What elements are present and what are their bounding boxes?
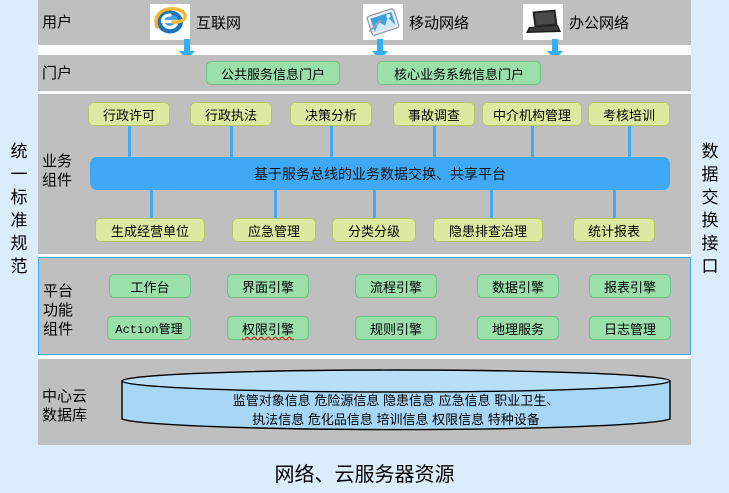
side-right-char-1: 据 bbox=[691, 163, 729, 186]
database-content-text: 监管对象信息 危险源信息 隐患信息 应急信息 职业卫生、 执法信息 危化品信息 … bbox=[120, 391, 672, 429]
user-layer-band: 用户 互联网 bbox=[38, 0, 691, 45]
side-left-char-2: 标 bbox=[0, 186, 38, 209]
business-node-accident-investigation[interactable]: 事故调查 bbox=[393, 102, 475, 126]
platform-node-ui-engine[interactable]: 界面引擎 bbox=[227, 274, 309, 298]
connector-top-6 bbox=[628, 126, 631, 158]
business-node-hazard-investigation-label: 隐患排查治理 bbox=[449, 221, 527, 240]
platform-node-report-engine[interactable]: 报表引擎 bbox=[589, 274, 671, 298]
bottom-caption: 网络、云服务器资源 bbox=[0, 458, 729, 487]
user-endpoint-mobile[interactable]: 移动网络 bbox=[363, 4, 469, 40]
business-layer-band: 业务 组件 行政许可 行政执法 决策分析 事故调查 中介机构管理 考核培训 bbox=[38, 94, 691, 254]
side-left-char-0: 统 bbox=[0, 140, 38, 163]
row-label-business-line1: 业务 bbox=[42, 152, 96, 171]
side-left-char-5: 范 bbox=[0, 255, 38, 278]
row-label-database: 中心云 数据库 bbox=[42, 387, 96, 425]
connector-top-1 bbox=[128, 126, 131, 158]
connector-bottom-1 bbox=[150, 190, 153, 220]
row-label-user: 用户 bbox=[42, 13, 96, 32]
database-layer-band: 中心云 数据库 监管对象信息 危险源信息 隐患信息 应急信息 职业卫生、 执法信… bbox=[38, 359, 691, 445]
business-node-classification-grading[interactable]: 分类分级 bbox=[332, 218, 416, 242]
service-bus-label: 基于服务总线的业务数据交换、共享平台 bbox=[254, 164, 506, 184]
platform-node-data-engine-label: 数据引擎 bbox=[492, 277, 544, 296]
business-node-admin-enforcement-label: 行政执法 bbox=[205, 105, 257, 124]
connector-top-5 bbox=[531, 126, 534, 158]
service-bus-bar[interactable]: 基于服务总线的业务数据交换、共享平台 bbox=[90, 157, 670, 190]
diagram-canvas: 统 一 标 准 规 范 数 据 交 换 接 口 用户 bbox=[0, 0, 729, 493]
business-node-admin-license[interactable]: 行政许可 bbox=[88, 102, 170, 126]
side-label-left: 统 一 标 准 规 范 bbox=[0, 140, 38, 278]
user-endpoint-office[interactable]: 办公网络 bbox=[523, 4, 629, 40]
portal-node-core-business[interactable]: 核心业务系统信息门户 bbox=[377, 61, 541, 85]
row-label-portal: 门户 bbox=[42, 64, 96, 83]
user-endpoint-internet[interactable]: 互联网 bbox=[150, 4, 241, 40]
side-left-char-3: 准 bbox=[0, 209, 38, 232]
business-node-admin-enforcement[interactable]: 行政执法 bbox=[190, 102, 272, 126]
connector-top-2 bbox=[230, 126, 233, 158]
layer-stack: 用户 互联网 bbox=[38, 0, 691, 445]
business-node-agency-management-label: 中介机构管理 bbox=[493, 105, 571, 124]
user-endpoint-internet-label: 互联网 bbox=[196, 12, 241, 33]
side-right-char-2: 交 bbox=[691, 186, 729, 209]
business-node-admin-license-label: 行政许可 bbox=[103, 105, 155, 124]
database-content-line1: 监管对象信息 危险源信息 隐患信息 应急信息 职业卫生、 bbox=[120, 391, 672, 410]
user-endpoint-office-label: 办公网络 bbox=[569, 12, 629, 33]
side-label-right: 数 据 交 换 接 口 bbox=[691, 140, 729, 278]
row-label-portal-text: 门户 bbox=[42, 64, 96, 83]
cloud-database-cylinder[interactable]: 监管对象信息 危险源信息 隐患信息 应急信息 职业卫生、 执法信息 危化品信息 … bbox=[120, 369, 672, 437]
platform-node-process-engine-label: 流程引擎 bbox=[370, 277, 422, 296]
platform-node-geo-service-label: 地理服务 bbox=[492, 319, 544, 338]
platform-node-report-engine-label: 报表引擎 bbox=[604, 277, 656, 296]
side-right-char-3: 换 bbox=[691, 209, 729, 232]
row-label-business-line2: 组件 bbox=[42, 171, 96, 190]
side-right-char-0: 数 bbox=[691, 140, 729, 163]
platform-node-process-engine[interactable]: 流程引擎 bbox=[355, 274, 437, 298]
user-endpoint-mobile-label: 移动网络 bbox=[409, 12, 469, 33]
platform-node-permission-engine-label: 权限引擎 bbox=[242, 319, 294, 338]
platform-layer-band: 平台 功能 组件 工作台 界面引擎 流程引擎 数据引擎 报表引擎 Action管… bbox=[38, 257, 691, 355]
portal-layer-band: 门户 公共服务信息门户 核心业务系统信息门户 bbox=[38, 55, 691, 91]
row-label-business: 业务 组件 bbox=[42, 152, 96, 190]
business-node-emergency-management-label: 应急管理 bbox=[248, 221, 300, 240]
business-node-production-unit[interactable]: 生成经营单位 bbox=[95, 218, 205, 242]
business-node-decision-analysis-label: 决策分析 bbox=[305, 105, 357, 124]
business-node-decision-analysis[interactable]: 决策分析 bbox=[290, 102, 372, 126]
platform-node-action-management[interactable]: Action管理 bbox=[107, 316, 191, 340]
platform-node-workbench[interactable]: 工作台 bbox=[109, 274, 191, 298]
portal-node-public-service-label: 公共服务信息门户 bbox=[221, 64, 325, 83]
mobile-tablet-icon bbox=[363, 4, 403, 40]
business-node-assessment-training[interactable]: 考核培训 bbox=[588, 102, 670, 126]
business-node-classification-grading-label: 分类分级 bbox=[348, 221, 400, 240]
business-node-emergency-management[interactable]: 应急管理 bbox=[232, 218, 316, 242]
platform-node-log-management[interactable]: 日志管理 bbox=[589, 316, 671, 340]
portal-node-core-business-label: 核心业务系统信息门户 bbox=[394, 64, 524, 83]
business-node-assessment-training-label: 考核培训 bbox=[603, 105, 655, 124]
connector-bottom-2 bbox=[274, 190, 277, 220]
row-label-database-line2: 数据库 bbox=[42, 406, 96, 425]
platform-node-rule-engine[interactable]: 规则引擎 bbox=[355, 316, 437, 340]
connector-bottom-3 bbox=[373, 190, 376, 220]
side-left-char-1: 一 bbox=[0, 163, 38, 186]
connector-top-3 bbox=[330, 126, 333, 158]
platform-node-workbench-label: 工作台 bbox=[130, 277, 169, 296]
platform-node-data-engine[interactable]: 数据引擎 bbox=[477, 274, 559, 298]
row-label-platform-line1: 平台 bbox=[43, 282, 97, 301]
platform-node-ui-engine-label: 界面引擎 bbox=[242, 277, 294, 296]
database-content-line2: 执法信息 危化品信息 培训信息 权限信息 特种设备 bbox=[120, 410, 672, 429]
connector-bottom-4 bbox=[490, 190, 493, 220]
connector-top-4 bbox=[433, 126, 436, 158]
user-to-portal-gap bbox=[38, 45, 691, 55]
row-label-database-line1: 中心云 bbox=[42, 387, 96, 406]
side-right-char-5: 口 bbox=[691, 255, 729, 278]
row-label-user-text: 用户 bbox=[42, 13, 96, 32]
platform-node-action-management-label: Action管理 bbox=[115, 320, 182, 337]
bottom-caption-text: 网络、云服务器资源 bbox=[275, 464, 455, 486]
portal-node-public-service[interactable]: 公共服务信息门户 bbox=[206, 61, 340, 85]
business-node-hazard-investigation[interactable]: 隐患排查治理 bbox=[433, 218, 543, 242]
business-node-agency-management[interactable]: 中介机构管理 bbox=[482, 102, 582, 126]
platform-node-rule-engine-label: 规则引擎 bbox=[370, 319, 422, 338]
business-node-accident-investigation-label: 事故调查 bbox=[408, 105, 460, 124]
side-right-char-4: 接 bbox=[691, 232, 729, 255]
internet-explorer-icon bbox=[150, 4, 190, 40]
laptop-icon bbox=[523, 4, 563, 40]
platform-node-log-management-label: 日志管理 bbox=[604, 319, 656, 338]
connector-bottom-5 bbox=[613, 190, 616, 220]
side-left-char-4: 规 bbox=[0, 232, 38, 255]
row-label-platform-line3: 组件 bbox=[43, 320, 97, 339]
business-node-production-unit-label: 生成经营单位 bbox=[111, 221, 189, 240]
row-label-platform-line2: 功能 bbox=[43, 301, 97, 320]
business-node-statistical-report[interactable]: 统计报表 bbox=[573, 218, 655, 242]
business-node-statistical-report-label: 统计报表 bbox=[588, 221, 640, 240]
platform-node-permission-engine[interactable]: 权限引擎 bbox=[227, 316, 309, 340]
platform-node-geo-service[interactable]: 地理服务 bbox=[477, 316, 559, 340]
row-label-platform: 平台 功能 组件 bbox=[43, 282, 97, 339]
